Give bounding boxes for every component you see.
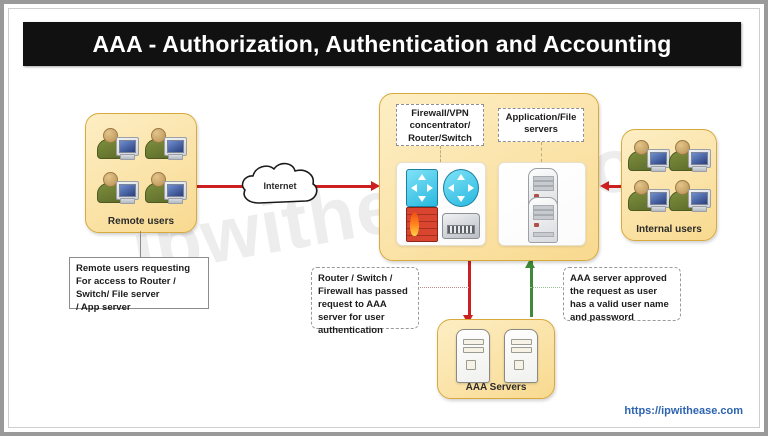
user-workstation-icon bbox=[96, 172, 140, 206]
firewall-group-label-line: concentrator/ bbox=[401, 120, 479, 132]
remote-users-leader bbox=[140, 231, 141, 257]
title-banner: AAA - Authorization, Authentication and … bbox=[23, 22, 741, 66]
approval-callout-line: AAA server approved bbox=[570, 272, 674, 285]
request-callout-line: Firewall has passed bbox=[318, 285, 412, 298]
remote-users-note-line: Remote users requesting bbox=[76, 262, 202, 275]
request-callout-line: request to AAA bbox=[318, 298, 412, 311]
firewall-group-label-line: Firewall/VPN bbox=[401, 108, 479, 120]
remote-users-note-line: For access to Router / bbox=[76, 275, 202, 288]
request-callout-line: Router / Switch / bbox=[318, 272, 412, 285]
request-callout-leader bbox=[413, 287, 469, 288]
firewall-group-label-line: Router/Switch bbox=[401, 133, 479, 145]
switch-gray-icon bbox=[442, 213, 480, 239]
diagram-canvas: ipwithease.com AAA - Authorization, Auth… bbox=[0, 0, 768, 436]
link-internet-to-edge bbox=[315, 185, 373, 188]
user-workstation-icon bbox=[144, 172, 188, 206]
switch-icon bbox=[406, 169, 438, 207]
user-workstation-icon bbox=[627, 140, 671, 174]
request-callout-line: server for user bbox=[318, 311, 412, 324]
approval-callout-leader bbox=[530, 287, 564, 288]
user-workstation-icon bbox=[96, 128, 140, 162]
app-file-servers-panel bbox=[498, 162, 586, 246]
servers-group-label: Application/File servers bbox=[498, 108, 584, 142]
remote-users-note-line: Switch/ File server bbox=[76, 288, 202, 301]
user-workstation-icon bbox=[627, 180, 671, 214]
servers-group-label-line: servers bbox=[503, 124, 579, 136]
approval-callout-line: and password bbox=[570, 311, 674, 324]
approval-callout: AAA server approved the request as user … bbox=[563, 267, 681, 321]
approval-callout-line: the request as user bbox=[570, 285, 674, 298]
servers-group-label-line: Application/File bbox=[503, 112, 579, 124]
aaa-server-icon bbox=[504, 329, 538, 383]
internet-label: Internet bbox=[237, 181, 323, 191]
firewall-group-label: Firewall/VPN concentrator/ Router/Switch bbox=[396, 104, 484, 146]
remote-users-note-line: / App server bbox=[76, 301, 202, 314]
remote-users-note: Remote users requesting For access to Ro… bbox=[69, 257, 209, 309]
network-devices-panel bbox=[396, 162, 486, 246]
remote-users-panel: Remote users bbox=[85, 113, 197, 233]
site-url[interactable]: https://ipwithease.com bbox=[624, 405, 743, 417]
aaa-servers-label: AAA Servers bbox=[438, 382, 554, 393]
arrow-internal-to-edge bbox=[600, 181, 609, 191]
approval-callout-line: has a valid user name bbox=[570, 298, 674, 311]
page-title: AAA - Authorization, Authentication and … bbox=[93, 31, 672, 58]
internal-users-label: Internal users bbox=[622, 224, 716, 235]
firewall-label-connector bbox=[440, 146, 441, 162]
servers-label-connector bbox=[541, 142, 542, 162]
server-icon bbox=[528, 197, 558, 243]
request-callout-line: authentication bbox=[318, 324, 412, 337]
firewall-icon bbox=[406, 207, 438, 242]
flow-request-to-aaa bbox=[468, 259, 471, 317]
user-workstation-icon bbox=[144, 128, 188, 162]
remote-users-label: Remote users bbox=[86, 216, 196, 227]
aaa-server-icon bbox=[456, 329, 490, 383]
user-workstation-icon bbox=[668, 180, 712, 214]
internal-users-panel: Internal users bbox=[621, 129, 717, 241]
diagram-inner-frame: ipwithease.com AAA - Authorization, Auth… bbox=[8, 8, 760, 428]
request-callout: Router / Switch / Firewall has passed re… bbox=[311, 267, 419, 329]
internet-cloud: Internet bbox=[237, 159, 323, 213]
user-workstation-icon bbox=[668, 140, 712, 174]
router-icon bbox=[443, 169, 479, 207]
aaa-servers-panel: AAA Servers bbox=[437, 319, 555, 399]
datacenter-panel: Firewall/VPN concentrator/ Router/Switch… bbox=[379, 93, 599, 261]
